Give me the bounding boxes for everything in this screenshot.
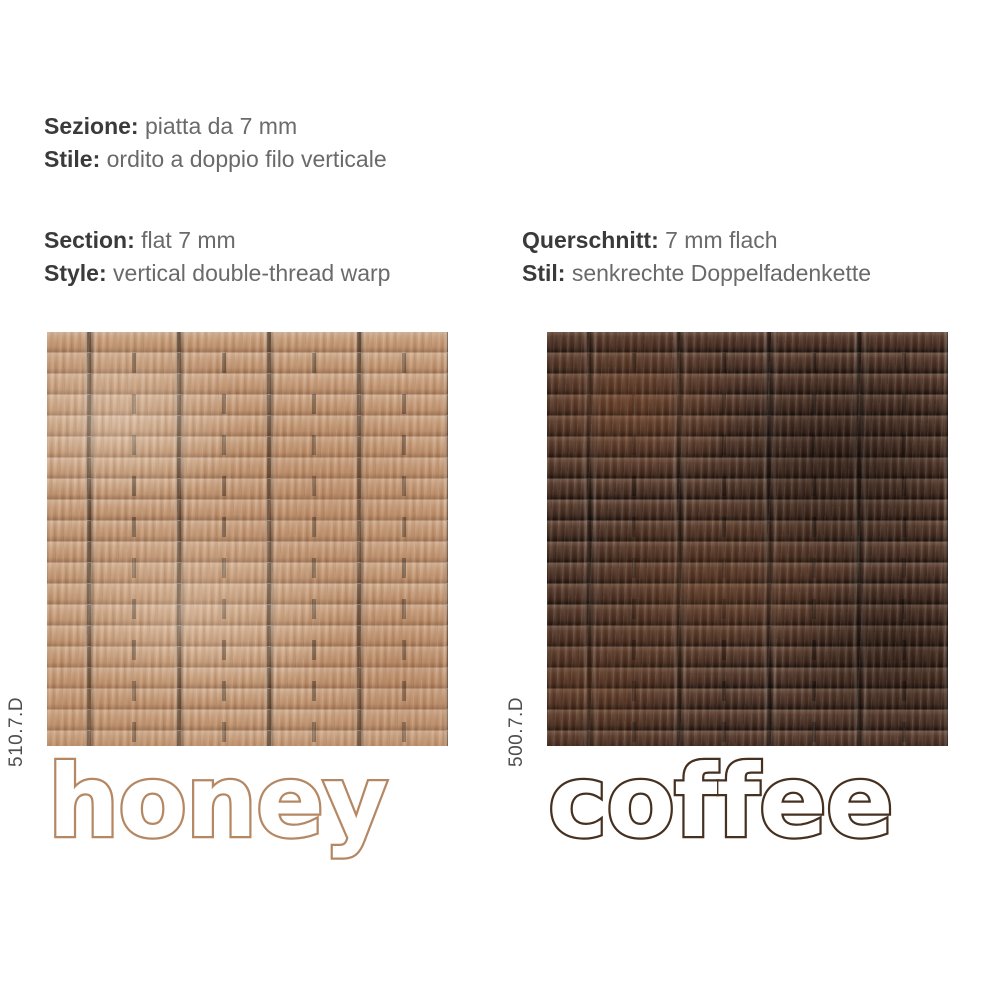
color-name-honey: honey [48, 752, 387, 852]
spec-line-section-german: Querschnitt: 7 mm flach [522, 224, 871, 257]
spec-value-section-italian: piatta da 7 mm [145, 113, 297, 139]
spec-block-italian: Sezione: piatta da 7 mm Stile: ordito a … [44, 110, 387, 176]
spec-value-style-german: senkrechte Doppelfadenkette [572, 260, 871, 286]
weave-fibre-grain [547, 332, 948, 746]
spec-block-german: Querschnitt: 7 mm flach Stil: senkrechte… [522, 224, 871, 290]
color-name-coffee: coffee [548, 752, 893, 852]
spec-line-style-italian: Stile: ordito a doppio filo verticale [44, 143, 387, 176]
spec-line-section-italian: Sezione: piatta da 7 mm [44, 110, 387, 143]
spec-label-style-italian: Stile: [44, 146, 100, 172]
spec-value-section-english: flat 7 mm [141, 227, 236, 253]
spec-label-style-german: Stil: [522, 260, 565, 286]
spec-value-section-german: 7 mm flach [665, 227, 777, 253]
spec-line-section-english: Section: flat 7 mm [44, 224, 390, 257]
spec-value-style-english: vertical double-thread warp [113, 260, 390, 286]
spec-line-style-english: Style: vertical double-thread warp [44, 257, 390, 290]
spec-value-style-italian: ordito a doppio filo verticale [107, 146, 387, 172]
spec-line-style-german: Stil: senkrechte Doppelfadenkette [522, 257, 871, 290]
spec-label-section-german: Querschnitt: [522, 227, 659, 253]
weave-texture-honey [47, 332, 448, 746]
swatch-image-honey [47, 332, 448, 746]
weave-texture-coffee [547, 332, 948, 746]
spec-label-section-italian: Sezione: [44, 113, 139, 139]
spec-block-english: Section: flat 7 mm Style: vertical doubl… [44, 224, 390, 290]
spec-label-section-english: Section: [44, 227, 135, 253]
product-code-honey: 510.7.D [6, 697, 28, 767]
weave-fibre-grain [47, 332, 448, 746]
swatch-image-coffee [547, 332, 948, 746]
spec-label-style-english: Style: [44, 260, 107, 286]
product-code-coffee: 500.7.D [506, 697, 528, 767]
